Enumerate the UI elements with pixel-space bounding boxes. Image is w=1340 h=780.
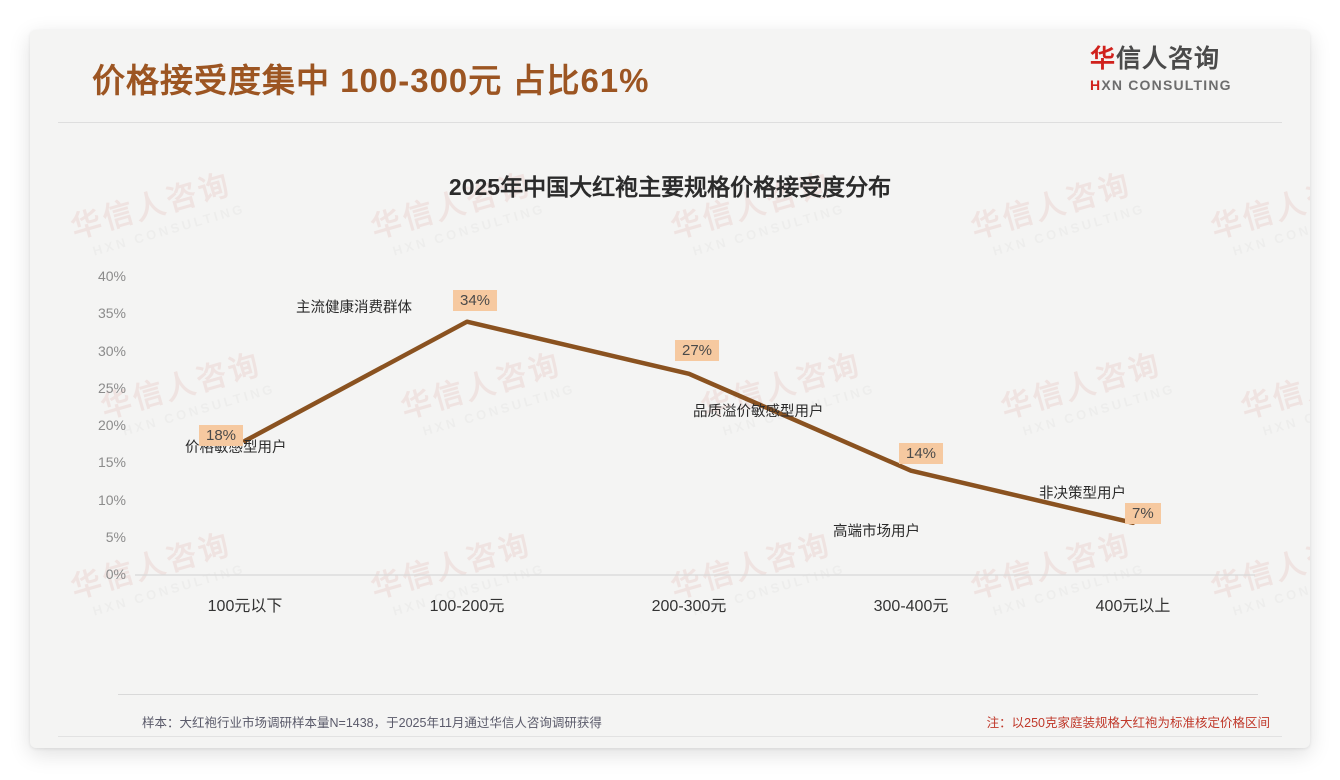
footnote-divider — [118, 694, 1258, 695]
chart-title: 2025年中国大红袍主要规格价格接受度分布 — [30, 168, 1310, 202]
header-divider — [58, 122, 1282, 123]
y-axis-tick-label: 30% — [70, 343, 126, 359]
x-axis-category-label: 200-300元 — [589, 592, 789, 616]
slide-header: 价格接受度集中 100-300元 占比61% 华信人咨询 HXN CONSULT… — [30, 30, 1310, 118]
note-remark: 注：以250克家庭装规格大红袍为标准核定价格区间 — [987, 712, 1270, 731]
point-annotation-label: 高端市场用户 — [833, 520, 920, 541]
copyright-text: ©2026.1 HXR华信人咨询 — [92, 747, 232, 748]
y-axis-tick-label: 40% — [70, 268, 126, 284]
y-axis-tick-label: 15% — [70, 454, 126, 470]
logo-english: HXN CONSULTING — [1090, 77, 1270, 93]
y-axis-tick-label: 25% — [70, 380, 126, 396]
x-axis-category-label: 100-200元 — [367, 592, 567, 616]
point-annotation-label: 主流健康消费群体 — [296, 296, 412, 317]
logo-en-gray: XN CONSULTING — [1101, 77, 1231, 93]
logo-chinese: 华信人咨询 — [1090, 46, 1270, 74]
brand-logo: 华信人咨询 HXN CONSULTING — [1090, 46, 1270, 93]
slide-card: 华信人咨询HXN CONSULTING华信人咨询HXN CONSULTING华信… — [30, 30, 1310, 748]
data-point-label: 34% — [453, 290, 497, 311]
bottom-divider — [58, 736, 1282, 737]
y-axis-tick-label: 35% — [70, 305, 126, 321]
line-chart-plot — [30, 30, 1310, 748]
x-axis-category-label: 400元以上 — [1033, 592, 1233, 616]
data-point-label: 18% — [199, 425, 243, 446]
y-axis-tick-label: 0% — [70, 566, 126, 582]
x-axis-category-label: 100元以下 — [145, 592, 345, 616]
point-annotation-label: 品质溢价敏感型用户 — [693, 400, 824, 421]
y-axis-tick-label: 10% — [70, 492, 126, 508]
point-annotation-label: 非决策型用户 — [1039, 482, 1126, 503]
data-point-label: 7% — [1125, 503, 1161, 524]
y-axis-tick-label: 5% — [70, 529, 126, 545]
logo-cn-red: 华 — [1090, 45, 1116, 73]
data-point-label: 27% — [675, 340, 719, 361]
note-sample: 样本：大红袍行业市场调研样本量N=1438，于2025年11月通过华信人咨询调研… — [142, 712, 602, 731]
y-axis-tick-label: 20% — [70, 417, 126, 433]
x-axis-category-label: 300-400元 — [811, 592, 1011, 616]
page-title: 价格接受度集中 100-300元 占比61% — [92, 54, 650, 102]
website-url: www.hxrcon.com — [1164, 747, 1258, 748]
logo-cn-gray: 信人咨询 — [1116, 45, 1220, 73]
logo-en-red: H — [1090, 77, 1101, 93]
data-point-label: 14% — [899, 443, 943, 464]
